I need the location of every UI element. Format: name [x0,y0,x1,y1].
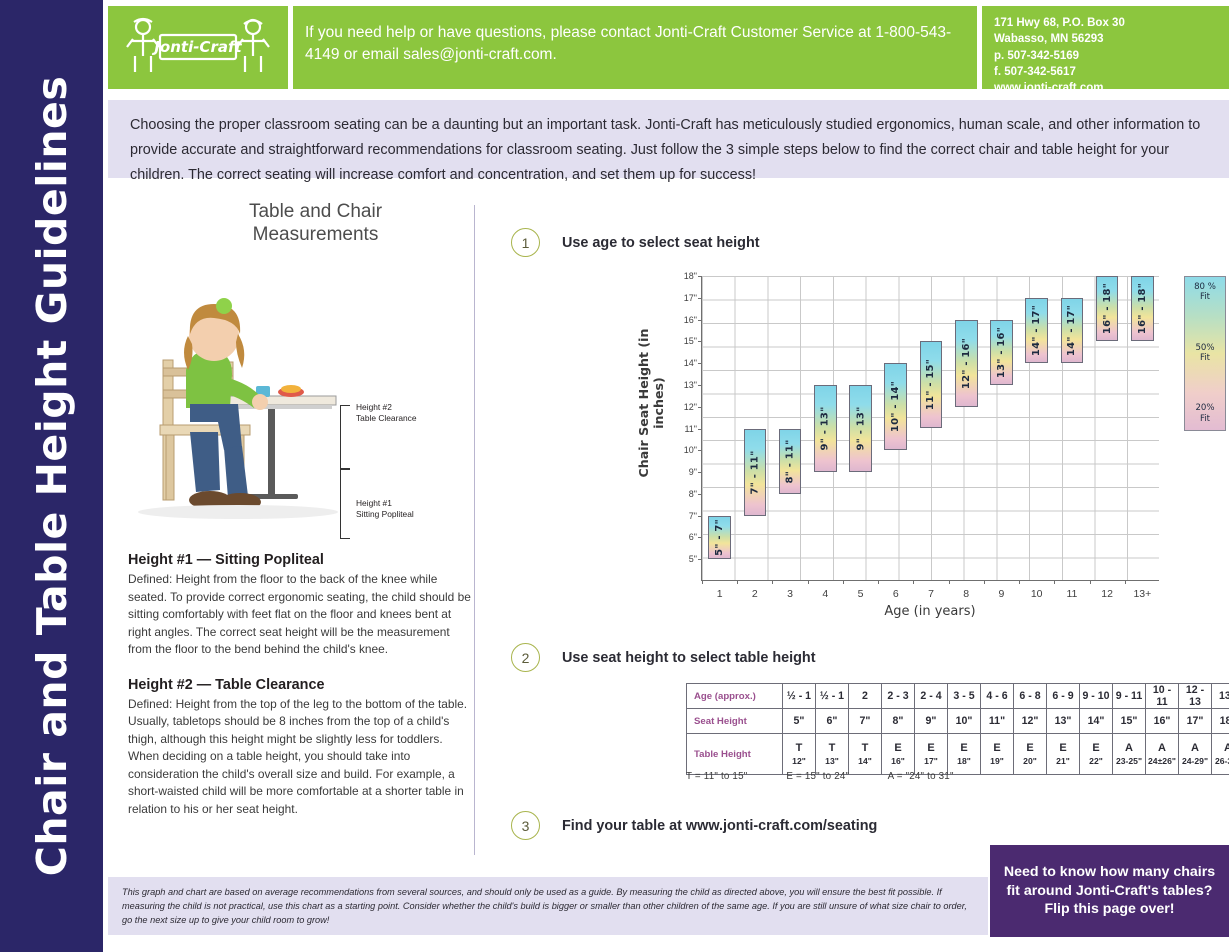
label-height-1: Height #1 Sitting Popliteal [356,498,414,520]
cell-table-height-inches: 23-25" [1113,757,1145,766]
child-at-table-illustration: Height #2 Table Clearance Height #1 Sitt… [128,250,473,550]
cell-table-height-letter: T [816,743,848,754]
chart-x-tick-mark [1125,580,1126,584]
cell-table-height: A23-25" [1113,734,1146,775]
legend-80-value: 80 % [1194,282,1216,292]
cell-table-height-letter: T [783,743,815,754]
address-line-street: 171 Hwy 68, P.O. Box 30 [994,15,1229,31]
chart-x-tick: 9 [999,588,1005,600]
legend-80-unit: Fit [1200,292,1210,302]
cell-table-height-letter: E [915,743,947,754]
logo-wordmark: Jonti-Craft [151,38,242,56]
cell-seat-height: 5" [783,709,816,734]
definition-height-2-body: Defined: Height from the top of the leg … [128,696,473,819]
cell-seat-height: 12" [1014,709,1047,734]
chart-y-tick-mark [698,385,702,386]
chart-bar-label: 5" - 7" [714,519,725,556]
page-title: Chair and Table Height Guidelines [28,76,76,876]
label-height-1-line1: Height #1 [356,498,392,508]
cell-table-height: E18" [948,734,981,775]
cell-table-height: E19" [981,734,1014,775]
cell-table-height-letter: E [882,743,914,754]
legend-20-unit: Fit [1200,414,1210,424]
measurements-title-line2: Measurements [253,224,379,245]
table-height-key: T = 11" to 15" E = 15" to 24" A = "24" t… [686,771,990,782]
cell-table-height-inches: 24-29" [1179,757,1211,766]
cell-seat-height: 11" [981,709,1014,734]
chart-x-tick: 10 [1031,588,1043,600]
legend-50-value: 50% [1195,343,1214,353]
table-row-seat-height: Seat Height 5"6"7"8"9"10"11"12"13"14"15"… [687,709,1229,734]
size-table: Age (approx.) ½ - 1½ - 122 - 32 - 43 - 5… [686,683,1229,775]
table-row-table-height: Table Height T12"T13"T14"E16"E17"E18"E19… [687,734,1229,775]
step-2-label: Use seat height to select table height [562,650,816,666]
cell-table-height-inches: 17" [915,757,947,766]
cell-table-height-inches: 12" [783,757,815,766]
chart-x-tick-mark [808,580,809,584]
chart-y-tick-mark [698,276,702,277]
chart-bar: 14" - 17" [1025,298,1048,363]
cell-age: 9 - 11 [1113,684,1146,709]
measurements-title-line1: Table and Chair [249,201,382,222]
chart-bar: 13" - 16" [990,320,1013,385]
cell-table-height-inches: 22" [1080,757,1112,766]
column-divider [474,205,475,855]
row-header-age: Age (approx.) [687,684,783,709]
chart-y-tick-mark [698,559,702,560]
chart-x-tick: 5 [858,588,864,600]
address-line-phone: p. 507-342-5169 [994,48,1229,64]
chart-legend: 80 % Fit 50% Fit 20% Fit [1184,276,1226,431]
chart-x-tick: 2 [752,588,758,600]
cell-table-height-letter: E [1047,743,1079,754]
cell-table-height: E21" [1047,734,1080,775]
chart-bar: 9" - 13" [849,385,872,472]
chart-y-tick-mark [698,341,702,342]
cell-age: 3 - 5 [948,684,981,709]
cell-table-height: T14" [849,734,882,775]
chart-x-tick: 4 [822,588,828,600]
chart-x-tick: 3 [787,588,793,600]
cell-age: 6 - 8 [1014,684,1047,709]
row-header-seat-height: Seat Height [687,709,783,734]
legend-20-value: 20% [1195,403,1214,413]
definition-height-2-heading: Height #2 — Table Clearance [128,677,473,693]
cell-table-height-inches: 21" [1047,757,1079,766]
chart-x-tick-mark [1054,580,1055,584]
cell-table-height-letter: E [981,743,1013,754]
chart-x-tick: 1 [717,588,723,600]
chart-plot-area: 5"6"7"8"9"10"11"12"13"14"15"16"17"18"123… [701,276,1159,581]
chart-x-tick-mark [702,580,703,584]
cell-table-height-letter: E [948,743,980,754]
cell-seat-height: 13" [1047,709,1080,734]
cell-table-height: T13" [816,734,849,775]
cell-age: 6 - 9 [1047,684,1080,709]
measurements-title: Table and Chair Measurements [158,200,473,246]
cell-seat-height: 18" [1212,709,1229,734]
chart-bar-label: 11" - 15" [925,359,936,410]
cell-table-height: E22" [1080,734,1113,775]
chart-x-tick: 8 [963,588,969,600]
chart-x-tick-mark [737,580,738,584]
size-table-wrapper: Age (approx.) ½ - 1½ - 122 - 32 - 43 - 5… [686,683,1229,775]
cell-table-height-letter: A [1146,743,1178,754]
cell-table-height-inches: 19" [981,757,1013,766]
chart-bar: 7" - 11" [744,429,767,516]
chart-bar-label: 9" - 13" [820,406,831,450]
chart-x-tick-mark [843,580,844,584]
chart-x-tick-mark [772,580,773,584]
label-height-2-line1: Height #2 [356,402,392,412]
illustration-svg [128,250,473,550]
disclaimer-text: This graph and chart are based on averag… [108,877,988,935]
definition-height-1: Height #1 — Sitting Popliteal Defined: H… [128,552,473,659]
cell-table-height-letter: E [1080,743,1112,754]
step-3-number: 3 [511,811,540,840]
cell-seat-height: 6" [816,709,849,734]
cell-table-height: E16" [882,734,915,775]
legend-50-unit: Fit [1200,353,1210,363]
cell-table-height: T12" [783,734,816,775]
chart-bar-label: 12" - 16" [961,338,972,389]
cell-seat-height: 8" [882,709,915,734]
side-title-band: Chair and Table Height Guidelines [0,0,103,952]
definition-height-2: Height #2 — Table Clearance Defined: Hei… [128,677,473,819]
intro-paragraph: Choosing the proper classroom seating ca… [108,100,1229,178]
label-height-1-line2: Sitting Popliteal [356,509,414,519]
chart-bar: 16" - 18" [1096,276,1119,341]
address-line-city: Wabasso, MN 56293 [994,31,1229,47]
chart-x-tick: 11 [1066,588,1077,600]
chart-x-tick: 7 [928,588,934,600]
chart-x-tick: 12 [1101,588,1113,600]
sitting-popliteal-brace [340,469,341,539]
cell-age: ½ - 1 [816,684,849,709]
cell-table-height-letter: E [1014,743,1046,754]
jonti-craft-logo: Jonti-Craft [108,6,288,89]
legend-entry-20: 20% Fit [1185,403,1225,424]
cell-seat-height: 17" [1179,709,1212,734]
chart-bar: 11" - 15" [920,341,943,428]
chart-bar: 14" - 17" [1061,298,1084,363]
page-body: Jonti-Craft If you need help or have que… [103,0,1229,952]
chart-x-tick: 13+ [1133,588,1151,600]
chart-y-tick-mark [698,516,702,517]
chart-bar: 9" - 13" [814,385,837,472]
chart-bar-label: 14" - 17" [1066,305,1077,356]
chart-y-tick-mark [698,472,702,473]
chart-bar: 10" - 14" [884,363,907,450]
cell-seat-height: 7" [849,709,882,734]
cell-table-height: E20" [1014,734,1047,775]
chart-bar: 5" - 7" [708,516,731,560]
label-height-2: Height #2 Table Clearance [356,402,417,424]
chart-bar-label: 9" - 13" [855,406,866,450]
cell-table-height: A26-30" [1212,734,1229,775]
cell-age: 10 - 11 [1146,684,1179,709]
cell-table-height: E17" [915,734,948,775]
table-row-age: Age (approx.) ½ - 1½ - 122 - 32 - 43 - 5… [687,684,1229,709]
cell-table-height-inches: 20" [1014,757,1046,766]
step-2-number: 2 [511,643,540,672]
header: Jonti-Craft If you need help or have que… [108,6,1229,89]
label-height-2-line2: Table Clearance [356,413,417,423]
chart-y-tick-mark [698,429,702,430]
step-2: 2 Use seat height to select table height [511,643,1211,672]
cell-age: 2 - 4 [915,684,948,709]
cell-table-height-letter: A [1113,743,1145,754]
cell-age: 9 - 10 [1080,684,1113,709]
cell-table-height-letter: A [1179,743,1211,754]
cell-table-height-inches: 24±26" [1146,757,1178,766]
cell-table-height: A24-29" [1179,734,1212,775]
logo-icon: Jonti-Craft [113,15,283,81]
chart-bar: 8" - 11" [779,429,802,494]
chart-y-tick-mark [698,363,702,364]
definition-height-1-body: Defined: Height from the floor to the ba… [128,571,473,659]
chart-y-axis-label: Chair Seat Height (in inches) [636,308,666,498]
chart-y-tick-mark [698,298,702,299]
chart-x-axis-label: Age (in years) [701,604,1159,619]
legend-entry-50: 50% Fit [1185,343,1225,364]
definition-height-1-heading: Height #1 — Sitting Popliteal [128,552,473,568]
cell-table-height-inches: 18" [948,757,980,766]
chart-y-tick-mark [698,494,702,495]
key-a: A = "24" to 31" [888,771,954,782]
chart-bar-label: 7" - 11" [749,450,760,494]
chart-bar-label: 10" - 14" [890,381,901,432]
left-column: Table and Chair Measurements [128,200,473,818]
flip-page-callout: Need to know how many chairs fit around … [990,845,1229,937]
chart-bar-label: 16" - 18" [1137,283,1148,334]
cell-table-height: A24±26" [1146,734,1179,775]
cell-age: 12 - 13 [1179,684,1212,709]
customer-service-message: If you need help or have questions, plea… [293,6,977,89]
cell-seat-height: 14" [1080,709,1113,734]
chart-x-tick-mark [913,580,914,584]
cell-age: 2 - 3 [882,684,915,709]
chart-x-tick-mark [984,580,985,584]
step-3-label[interactable]: Find your table at www.jonti-craft.com/s… [562,818,877,834]
cell-seat-height: 9" [915,709,948,734]
step-1: 1 Use age to select seat height [511,228,1211,257]
chart-y-tick-mark [698,537,702,538]
cell-age: 13+ [1212,684,1229,709]
step-1-number: 1 [511,228,540,257]
address-line-fax: f. 507-342-5617 [994,64,1229,80]
chart-y-tick-mark [698,407,702,408]
address-line-website[interactable]: www.jonti-craft.com [994,80,1229,96]
chart-bar: 16" - 18" [1131,276,1154,341]
cell-table-height-inches: 16" [882,757,914,766]
chart-x-tick: 6 [893,588,899,600]
cell-age: 4 - 6 [981,684,1014,709]
right-column: 1 Use age to select seat height Chair Se… [511,228,1211,257]
chart-x-tick-mark [1090,580,1091,584]
step-1-label: Use age to select seat height [562,235,760,251]
key-e: E = 15" to 24" [786,771,849,782]
chart-x-tick-mark [1019,580,1020,584]
table-clearance-brace [340,405,341,469]
chart-y-tick-mark [698,320,702,321]
chart-bar-label: 8" - 11" [785,439,796,483]
cell-seat-height: 10" [948,709,981,734]
row-header-table-height: Table Height [687,734,783,775]
cell-table-height-inches: 14" [849,757,881,766]
seat-height-chart: Chair Seat Height (in inches) 5"6"7"8"9"… [654,268,1229,628]
chart-bar-label: 16" - 18" [1102,283,1113,334]
cell-age: ½ - 1 [783,684,816,709]
chart-bar-label: 13" - 16" [996,327,1007,378]
cell-age: 2 [849,684,882,709]
cell-table-height-inches: 26-30" [1212,757,1229,766]
key-t: T = 11" to 15" [686,771,747,782]
cell-seat-height: 16" [1146,709,1179,734]
cell-table-height-letter: A [1212,743,1229,754]
cell-table-height-letter: T [849,743,881,754]
chart-x-tick-mark [878,580,879,584]
chart-y-tick-mark [698,450,702,451]
chart-bar: 12" - 16" [955,320,978,407]
company-address: 171 Hwy 68, P.O. Box 30 Wabasso, MN 5629… [982,6,1229,89]
step-3: 3 Find your table at www.jonti-craft.com… [511,811,1211,840]
chart-x-tick-mark [949,580,950,584]
chart-bar-label: 14" - 17" [1031,305,1042,356]
cell-table-height-inches: 13" [816,757,848,766]
cell-seat-height: 15" [1113,709,1146,734]
legend-entry-80: 80 % Fit [1185,282,1225,303]
